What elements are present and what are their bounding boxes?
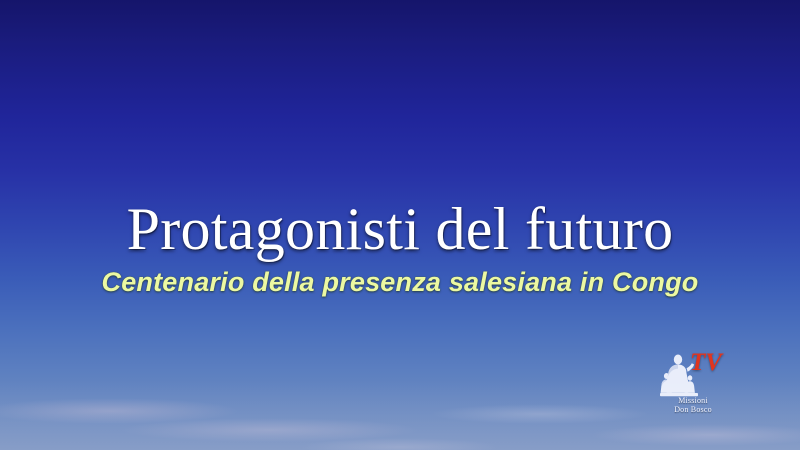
page-title: Protagonisti del futuro bbox=[0, 196, 800, 262]
page-subtitle: Centenario della presenza salesiana in C… bbox=[0, 266, 800, 298]
cloud-wisp bbox=[300, 438, 500, 450]
cloud-wisp bbox=[120, 418, 420, 442]
cloud-wisp bbox=[590, 424, 800, 446]
tv-label: TV bbox=[690, 350, 722, 375]
logo-wordmark: Missioni Don Bosco bbox=[656, 396, 730, 414]
logo-line-2: Don Bosco bbox=[656, 405, 730, 414]
video-frame: Protagonisti del futuro Centenario della… bbox=[0, 0, 800, 450]
missioni-don-bosco-tv-logo: TV Missioni Don Bosco bbox=[652, 350, 736, 414]
logo-line-1: Missioni bbox=[656, 396, 730, 405]
cloud-wisp bbox=[0, 398, 240, 424]
title-block: Protagonisti del futuro Centenario della… bbox=[0, 196, 800, 298]
cloud-wisp bbox=[430, 404, 650, 424]
